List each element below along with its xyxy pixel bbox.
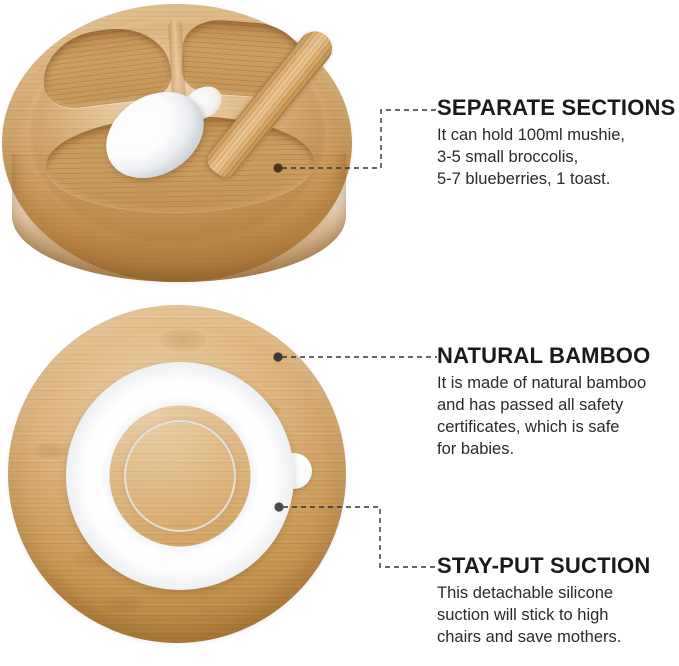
bamboo-grain-node bbox=[104, 595, 144, 613]
callout-body-line: 3-5 small broccolis, bbox=[437, 147, 679, 169]
callout-body: This detachable silicone suction will st… bbox=[437, 583, 679, 649]
callout-body: It can hold 100ml mushie, 3-5 small broc… bbox=[437, 125, 679, 191]
callout-natural-bamboo: NATURAL BAMBOO It is made of natural bam… bbox=[437, 344, 679, 461]
callout-body-line: It can hold 100ml mushie, bbox=[437, 125, 679, 147]
callout-stay-put-suction: STAY-PUT SUCTION This detachable silicon… bbox=[437, 554, 679, 649]
product-image-sectioned-plate bbox=[0, 0, 360, 285]
suction-ring-inner-edge bbox=[124, 420, 236, 532]
callout-body-line: It is made of natural bamboo bbox=[437, 373, 679, 395]
product-image-plate-underside bbox=[0, 300, 360, 666]
callout-separate-sections: SEPARATE SECTIONS It can hold 100ml mush… bbox=[437, 96, 679, 191]
callout-body-line: for babies. bbox=[437, 439, 679, 461]
callout-body-line: certificates, which is safe bbox=[437, 417, 679, 439]
bamboo-grain-node bbox=[34, 443, 68, 459]
callout-title: STAY-PUT SUCTION bbox=[437, 554, 679, 577]
callout-body-line: This detachable silicone bbox=[437, 583, 679, 605]
callout-body-line: and has passed all safety bbox=[437, 395, 679, 417]
baby-spoon bbox=[95, 0, 315, 200]
bamboo-plate-underside bbox=[8, 305, 346, 643]
infographic-page: SEPARATE SECTIONS It can hold 100ml mush… bbox=[0, 0, 679, 666]
callout-body-line: 5-7 blueberries, 1 toast. bbox=[437, 169, 679, 191]
callout-body-line: suction will stick to high bbox=[437, 605, 679, 627]
callout-body: It is made of natural bamboo and has pas… bbox=[437, 373, 679, 461]
callout-title: NATURAL BAMBOO bbox=[437, 344, 679, 367]
callout-body-line: chairs and save mothers. bbox=[437, 627, 679, 649]
bamboo-grain-node bbox=[160, 329, 206, 351]
callout-title: SEPARATE SECTIONS bbox=[437, 96, 679, 119]
